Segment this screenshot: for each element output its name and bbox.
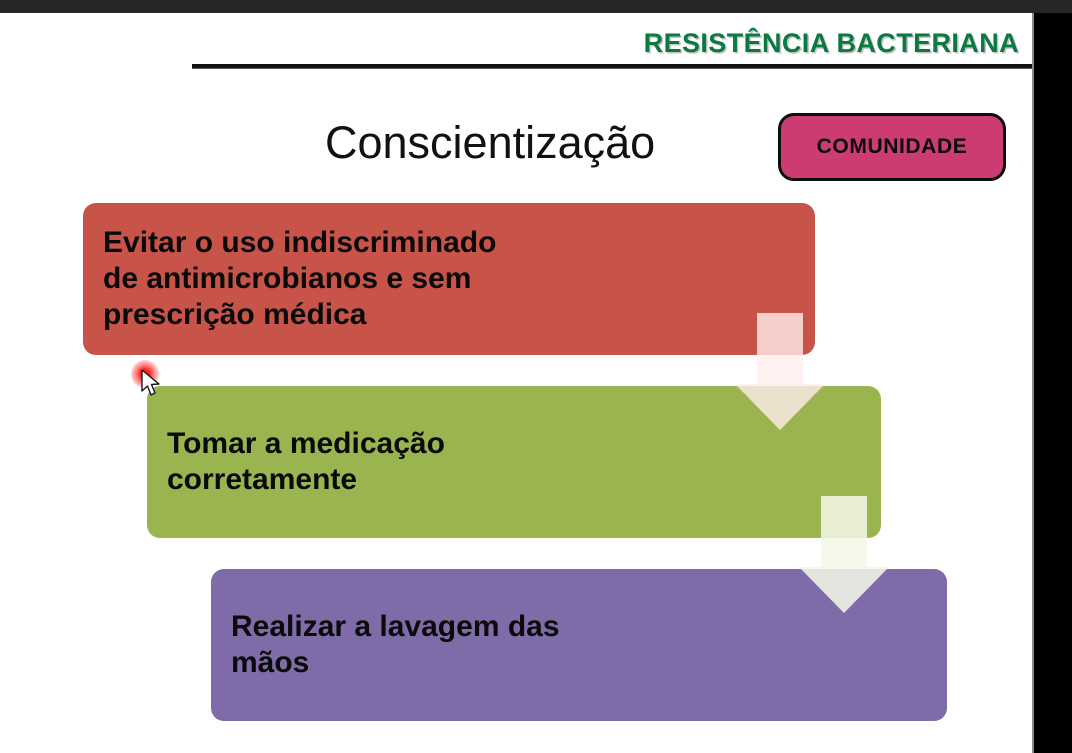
screen: RESISTÊNCIA BACTERIANA Conscientização C… [0,0,1072,753]
step-box-2-text: Tomar a medicação corretamente [167,426,859,499]
slide-header: RESISTÊNCIA BACTERIANA [0,13,1033,75]
right-gutter [1034,13,1072,753]
step-box-hand-washing: Realizar a lavagem das mãos [211,569,947,721]
community-badge-label: COMUNIDADE [817,135,968,159]
presentation-slide[interactable]: RESISTÊNCIA BACTERIANA Conscientização C… [0,13,1033,753]
click-indicator [131,360,159,388]
step-box-1-text: Evitar o uso indiscriminado de antimicro… [103,225,793,334]
slide-title: Conscientização [325,117,655,169]
slide-header-title: RESISTÊNCIA BACTERIANA [644,28,1019,59]
step-box-3-text: Realizar a lavagem das mãos [231,609,925,682]
header-divider-rule [192,64,1033,69]
community-badge: COMUNIDADE [778,113,1006,181]
step-box-take-medication-correctly: Tomar a medicação corretamente [147,386,881,538]
step-box-avoid-indiscriminate-use: Evitar o uso indiscriminado de antimicro… [83,203,815,355]
app-chrome-bar [0,0,1072,13]
